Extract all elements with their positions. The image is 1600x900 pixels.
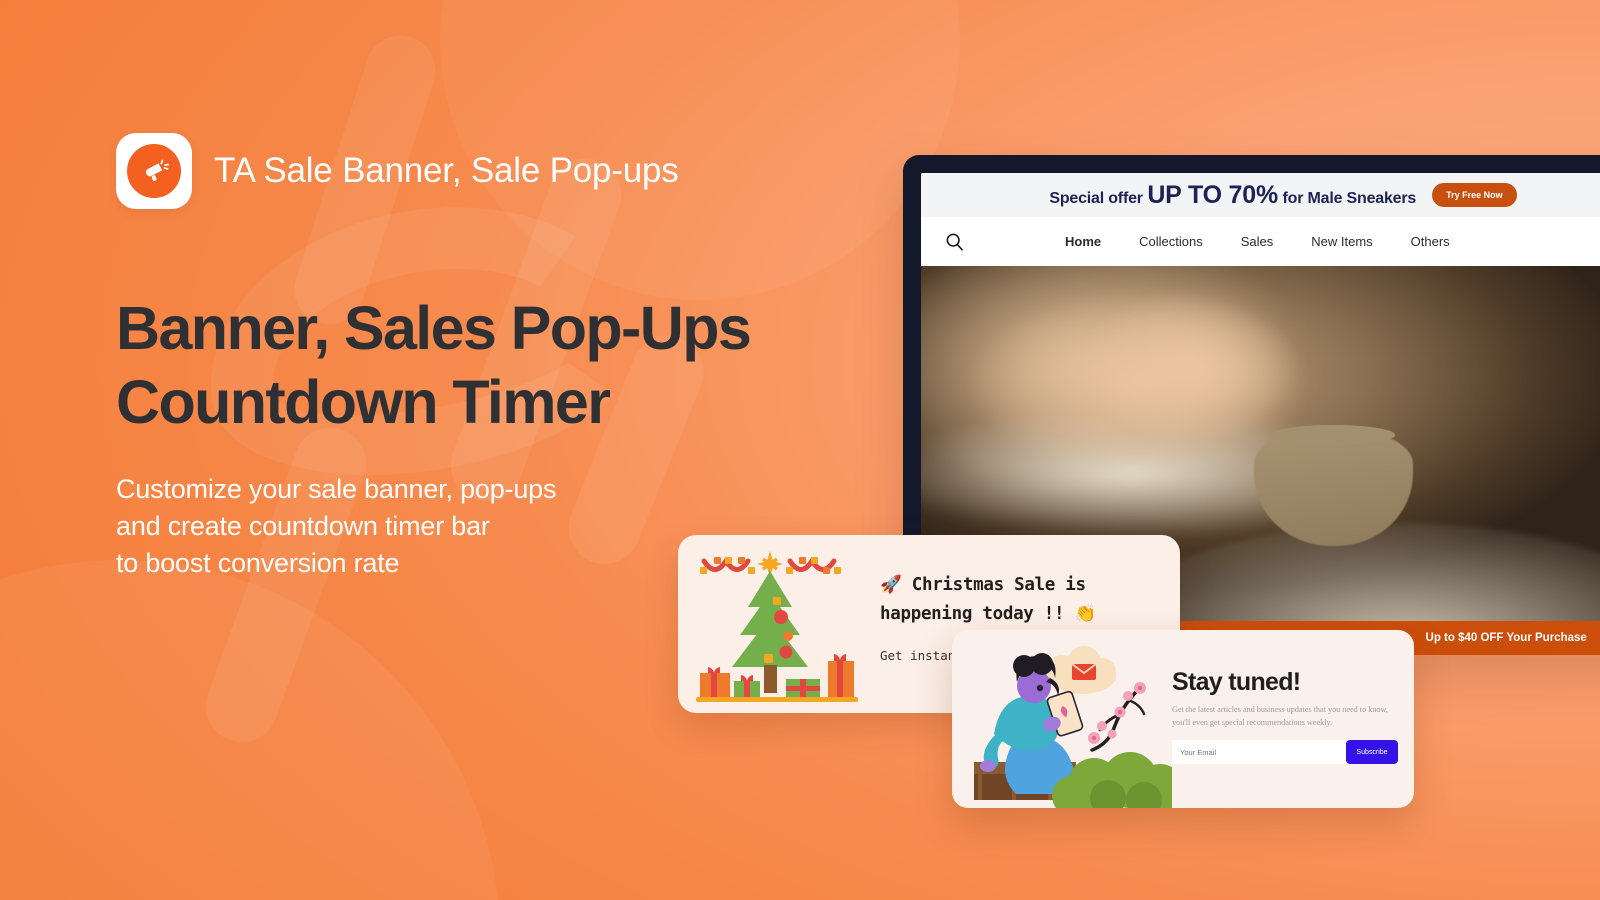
christmas-tree-illustration bbox=[678, 535, 874, 713]
store-nav-links: Home Collections Sales New Items Others bbox=[1065, 234, 1600, 249]
subtext-line-1: Customize your sale banner, pop-ups bbox=[116, 471, 876, 508]
search-icon[interactable] bbox=[945, 232, 1065, 251]
newsletter-popup-card[interactable]: Stay tuned! Get the latest articles and … bbox=[952, 630, 1414, 808]
app-logo bbox=[116, 133, 192, 209]
brand-name: TA Sale Banner, Sale Pop-ups bbox=[214, 151, 679, 191]
headline-line-2: Countdown Timer bbox=[116, 366, 876, 440]
marquee-item: Up to $40 OFF Your Purchase bbox=[1426, 632, 1587, 644]
store-promo-banner: Special offer UP TO 70% for Male Sneaker… bbox=[921, 173, 1600, 217]
megaphone-icon bbox=[127, 144, 181, 198]
christmas-title-line-1: 🚀 Christmas Sale is bbox=[880, 571, 1162, 600]
promo-suffix: for Male Sneakers bbox=[1283, 190, 1417, 207]
newsletter-form: Subscribe bbox=[1172, 740, 1398, 764]
promo-prefix: Special offer bbox=[1049, 190, 1142, 207]
potter-hand bbox=[1080, 289, 1297, 445]
promo-highlight: UP TO 70% bbox=[1147, 181, 1278, 209]
christmas-title-line-2: happening today !! 👏 bbox=[880, 600, 1162, 629]
nav-item-new-items[interactable]: New Items bbox=[1311, 234, 1372, 249]
tree-body bbox=[732, 571, 808, 667]
promo-banner-text: Special offer UP TO 70% for Male Sneaker… bbox=[1049, 181, 1416, 210]
hero-content: TA Sale Banner, Sale Pop-ups Banner, Sal… bbox=[116, 0, 876, 582]
subscribe-button[interactable]: Subscribe bbox=[1346, 740, 1398, 764]
nav-item-sales[interactable]: Sales bbox=[1241, 234, 1274, 249]
try-free-now-button[interactable]: Try Free Now bbox=[1432, 183, 1517, 207]
page-title: Banner, Sales Pop-Ups Countdown Timer bbox=[116, 292, 876, 440]
tree-trunk bbox=[764, 665, 777, 693]
newsletter-description: Get the latest articles and business upd… bbox=[1172, 704, 1398, 729]
newsletter-title: Stay tuned! bbox=[1172, 668, 1398, 697]
brand-row: TA Sale Banner, Sale Pop-ups bbox=[116, 133, 876, 209]
email-field[interactable] bbox=[1172, 740, 1348, 764]
nav-item-home[interactable]: Home bbox=[1065, 234, 1101, 249]
woman-reading-phone-illustration bbox=[952, 630, 1172, 808]
christmas-popup-title: 🚀 Christmas Sale is happening today !! 👏 bbox=[880, 571, 1162, 629]
headline-line-1: Banner, Sales Pop-Ups bbox=[116, 292, 876, 366]
nav-item-collections[interactable]: Collections bbox=[1139, 234, 1203, 249]
nav-item-others[interactable]: Others bbox=[1411, 234, 1450, 249]
store-navbar: Home Collections Sales New Items Others bbox=[921, 217, 1600, 266]
newsletter-popup-copy: Stay tuned! Get the latest articles and … bbox=[1172, 630, 1414, 808]
